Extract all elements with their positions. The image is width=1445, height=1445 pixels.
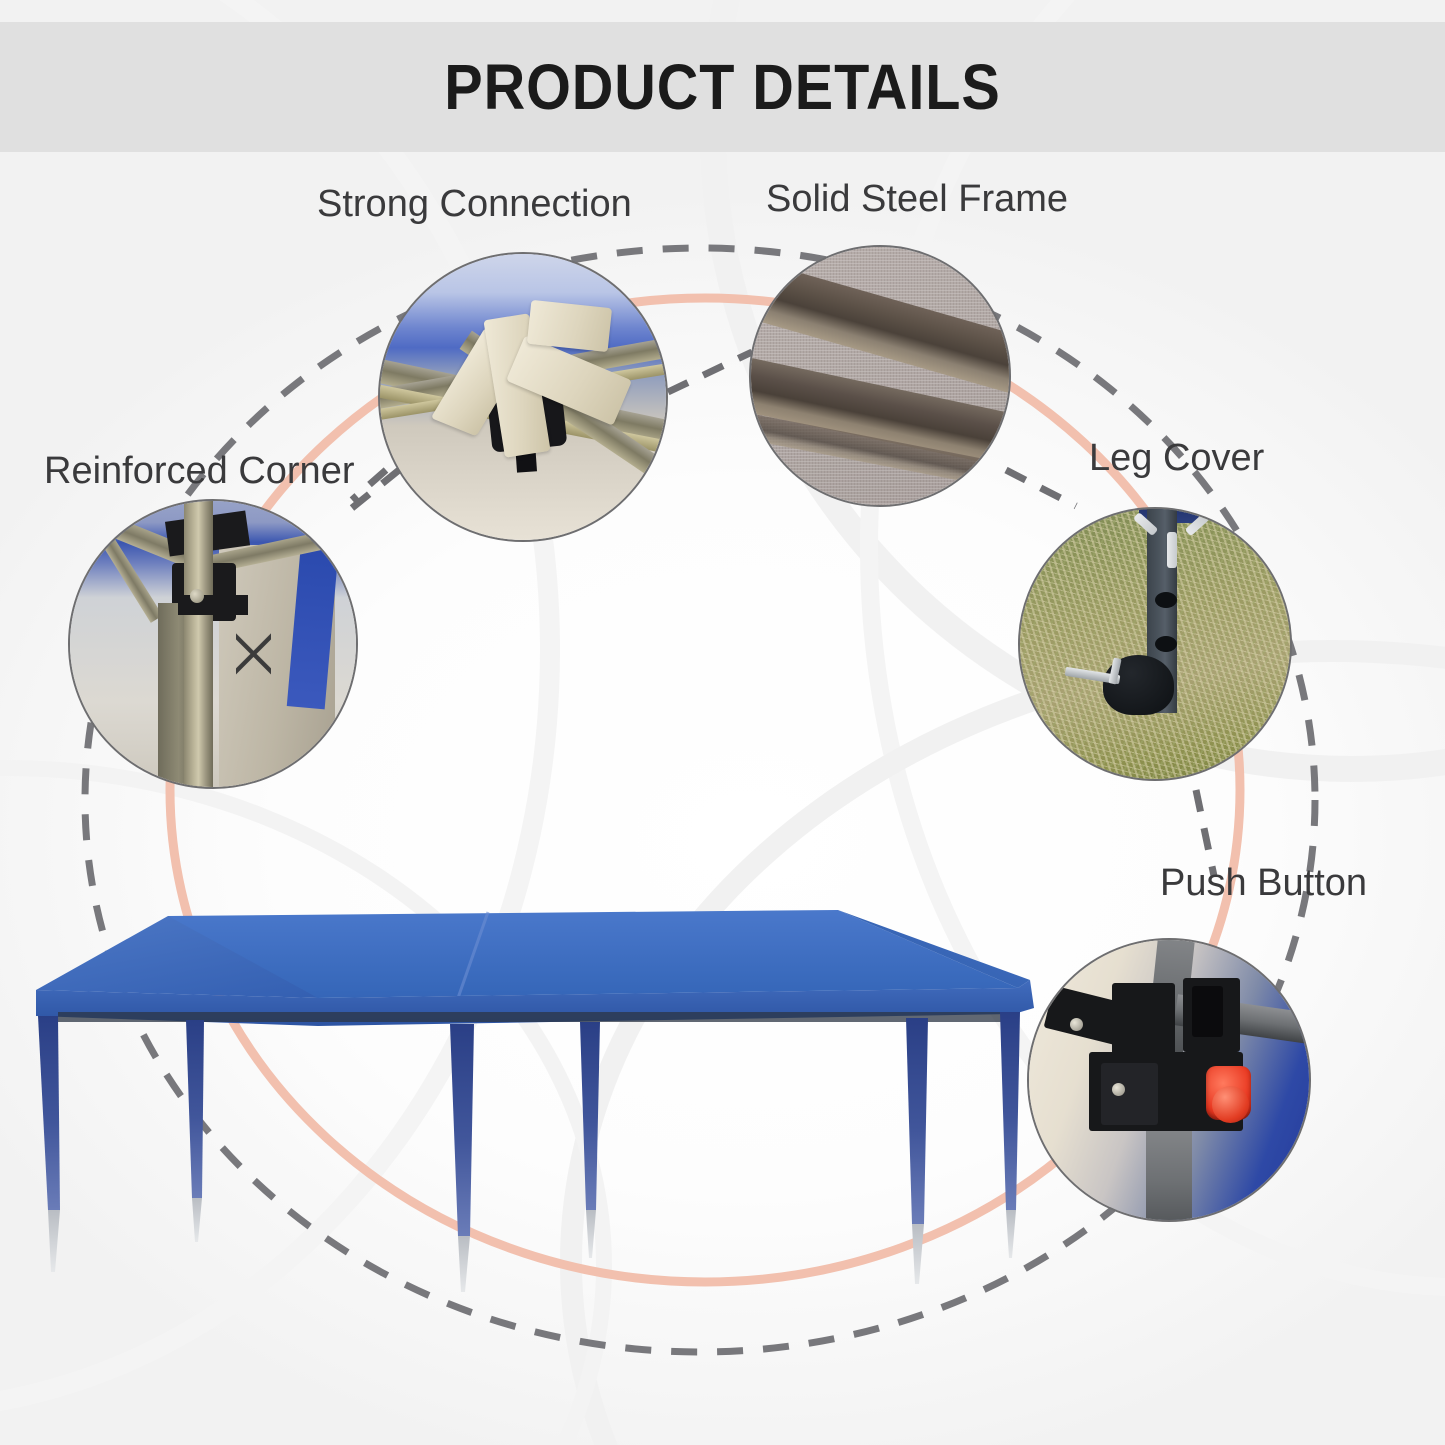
detail-circle-leg-cover[interactable] [1018, 507, 1292, 781]
tent-leg-spike-5 [912, 1224, 924, 1284]
callout-label-solid-steel-frame: Solid Steel Frame [766, 178, 1068, 221]
tent-leg-4 [580, 1022, 600, 1210]
photo-reinforced-corner [68, 499, 358, 789]
tent-leg-5 [906, 1018, 928, 1224]
callout-label-push-button: Push Button [1160, 862, 1367, 905]
detail-circle-reinforced-corner[interactable] [68, 499, 358, 789]
tent-roof-center-panel [168, 910, 1018, 998]
photo-strong-connection [378, 252, 668, 542]
infographic-canvas: PRODUCT DETAILS Strong Connection Solid … [0, 0, 1445, 1445]
detail-circle-strong-connection[interactable] [378, 252, 668, 542]
detail-circle-solid-steel-frame[interactable] [749, 245, 1011, 507]
tent-leg-spike-3 [458, 1236, 470, 1292]
product-photo-canopy-tent [18, 880, 1058, 1310]
detail-circle-push-button[interactable] [1027, 938, 1311, 1222]
tent-leg-1 [38, 1016, 60, 1210]
connector-frame-to-legcover [1006, 470, 1076, 506]
y-clip [1139, 512, 1205, 567]
tent-legs [38, 1012, 1020, 1292]
callout-label-leg-cover: Leg Cover [1089, 437, 1264, 480]
tent-leg-spike-4 [586, 1210, 596, 1258]
connector-conn-to-frame [668, 352, 752, 392]
tent-leg-2 [186, 1020, 204, 1198]
tent-leg-spike-2 [192, 1198, 202, 1242]
tent-leg-spike-6 [1006, 1210, 1016, 1258]
tent-leg-3 [450, 1024, 474, 1236]
tent-leg-6 [1000, 1012, 1020, 1210]
photo-solid-steel-frame [749, 245, 1011, 507]
tent-illustration [18, 880, 1058, 1310]
tent-leg-spike-1 [48, 1210, 60, 1272]
callout-label-reinforced-corner: Reinforced Corner [44, 450, 354, 493]
photo-leg-cover [1018, 507, 1292, 781]
callout-label-strong-connection: Strong Connection [317, 183, 632, 226]
photo-push-button [1027, 938, 1311, 1222]
